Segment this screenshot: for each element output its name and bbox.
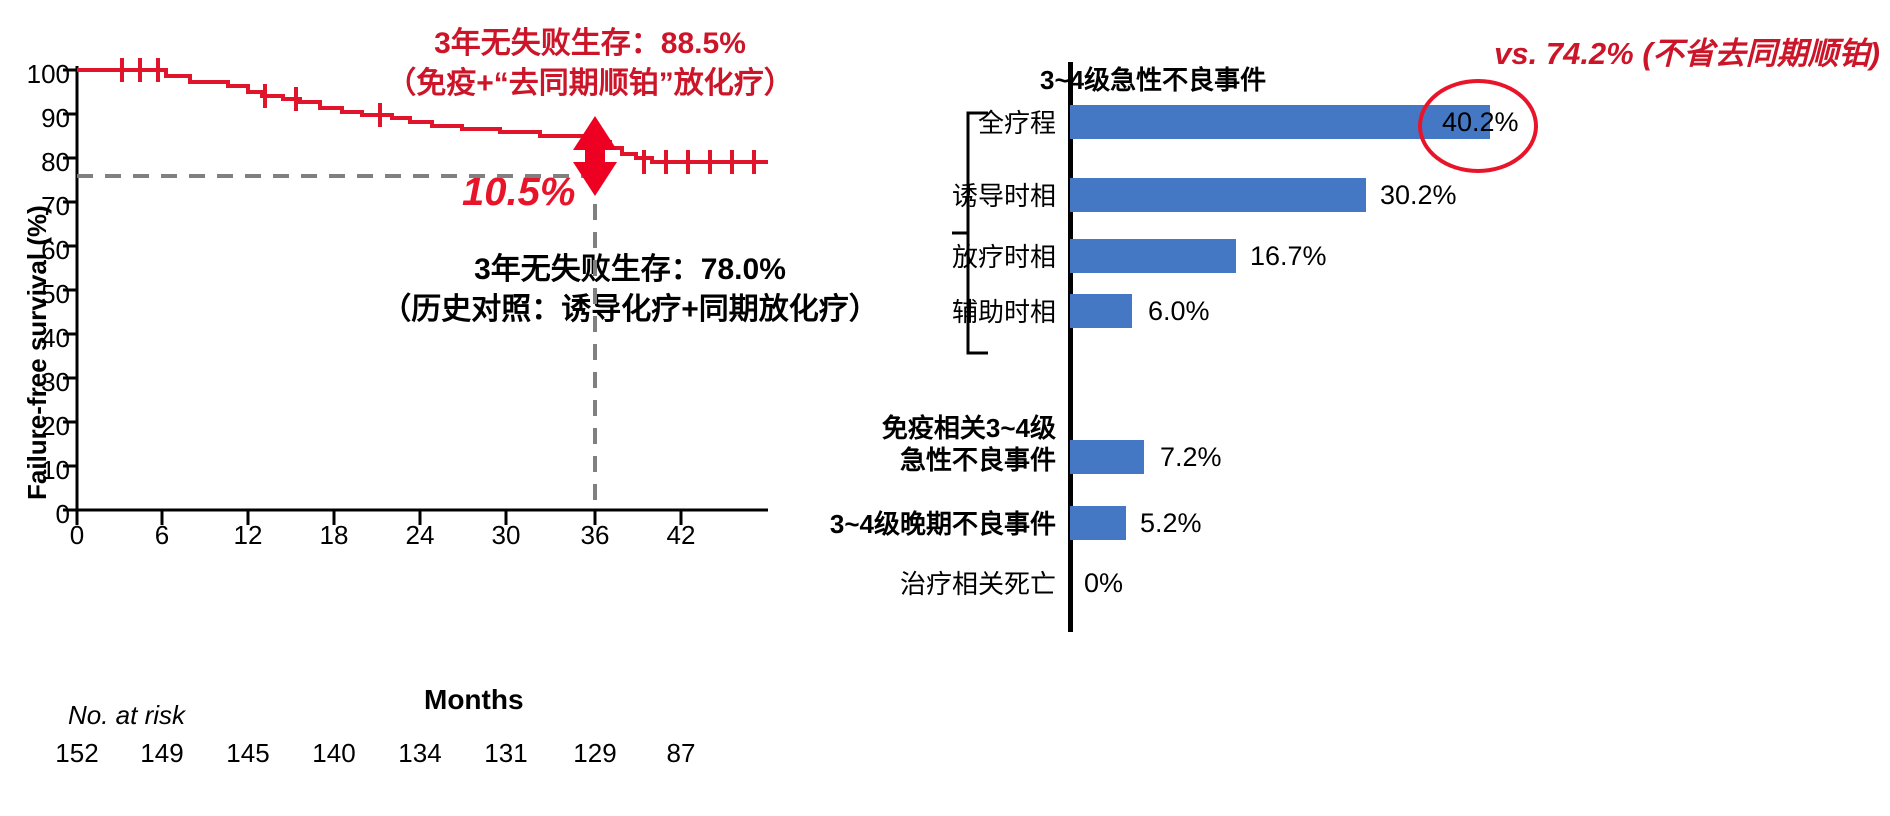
ae-bar-late-ae xyxy=(1070,506,1126,540)
km-censor-marks xyxy=(122,58,754,174)
ae-highlight-circle xyxy=(1418,79,1538,173)
adverse-events-panel: vs. 74.2% (不省去同期顺铂) 3~4级急性不良事件 全疗程 40.2%… xyxy=(1040,0,1890,816)
ae-bar-immune-related xyxy=(1070,440,1144,474)
ae-bar-induction xyxy=(1070,178,1366,212)
ae-value-late-ae: 5.2% xyxy=(1140,508,1202,539)
km-x-ticks xyxy=(77,510,681,525)
ae-label-immune-related: 免疫相关3~4级 急性不良事件 xyxy=(860,412,1056,476)
km-delta-arrow xyxy=(573,116,617,196)
km-y-ticks xyxy=(63,70,77,510)
ae-value-immune-related: 7.2% xyxy=(1160,442,1222,473)
ae-baseline-axis xyxy=(1068,62,1073,632)
ae-label-radiotherapy: 放疗时相 xyxy=(860,241,1056,273)
ae-bar-adjuvant xyxy=(1070,294,1132,328)
ae-label-late-ae: 3~4级晚期不良事件 xyxy=(800,508,1056,540)
ae-comparator-note: vs. 74.2% (不省去同期顺铂) xyxy=(1494,28,1880,73)
ae-label-treatment-death: 治疗相关死亡 xyxy=(840,568,1056,600)
ae-bar-radiotherapy xyxy=(1070,239,1236,273)
ae-label-induction: 诱导时相 xyxy=(860,180,1056,212)
slide-root: 3年无失败生存：88.5% （免疫+“去同期顺铂”放化疗） 10.5% 3年无失… xyxy=(0,0,1890,816)
ae-value-radiotherapy: 16.7% xyxy=(1250,241,1327,272)
ae-label-full-course: 全疗程 xyxy=(860,107,1056,139)
ae-value-induction: 30.2% xyxy=(1380,180,1457,211)
km-survival-curve xyxy=(77,70,768,162)
ae-label-adjuvant: 辅助时相 xyxy=(860,296,1056,328)
ae-value-treatment-death: 0% xyxy=(1084,568,1123,599)
ae-value-adjuvant: 6.0% xyxy=(1148,296,1210,327)
